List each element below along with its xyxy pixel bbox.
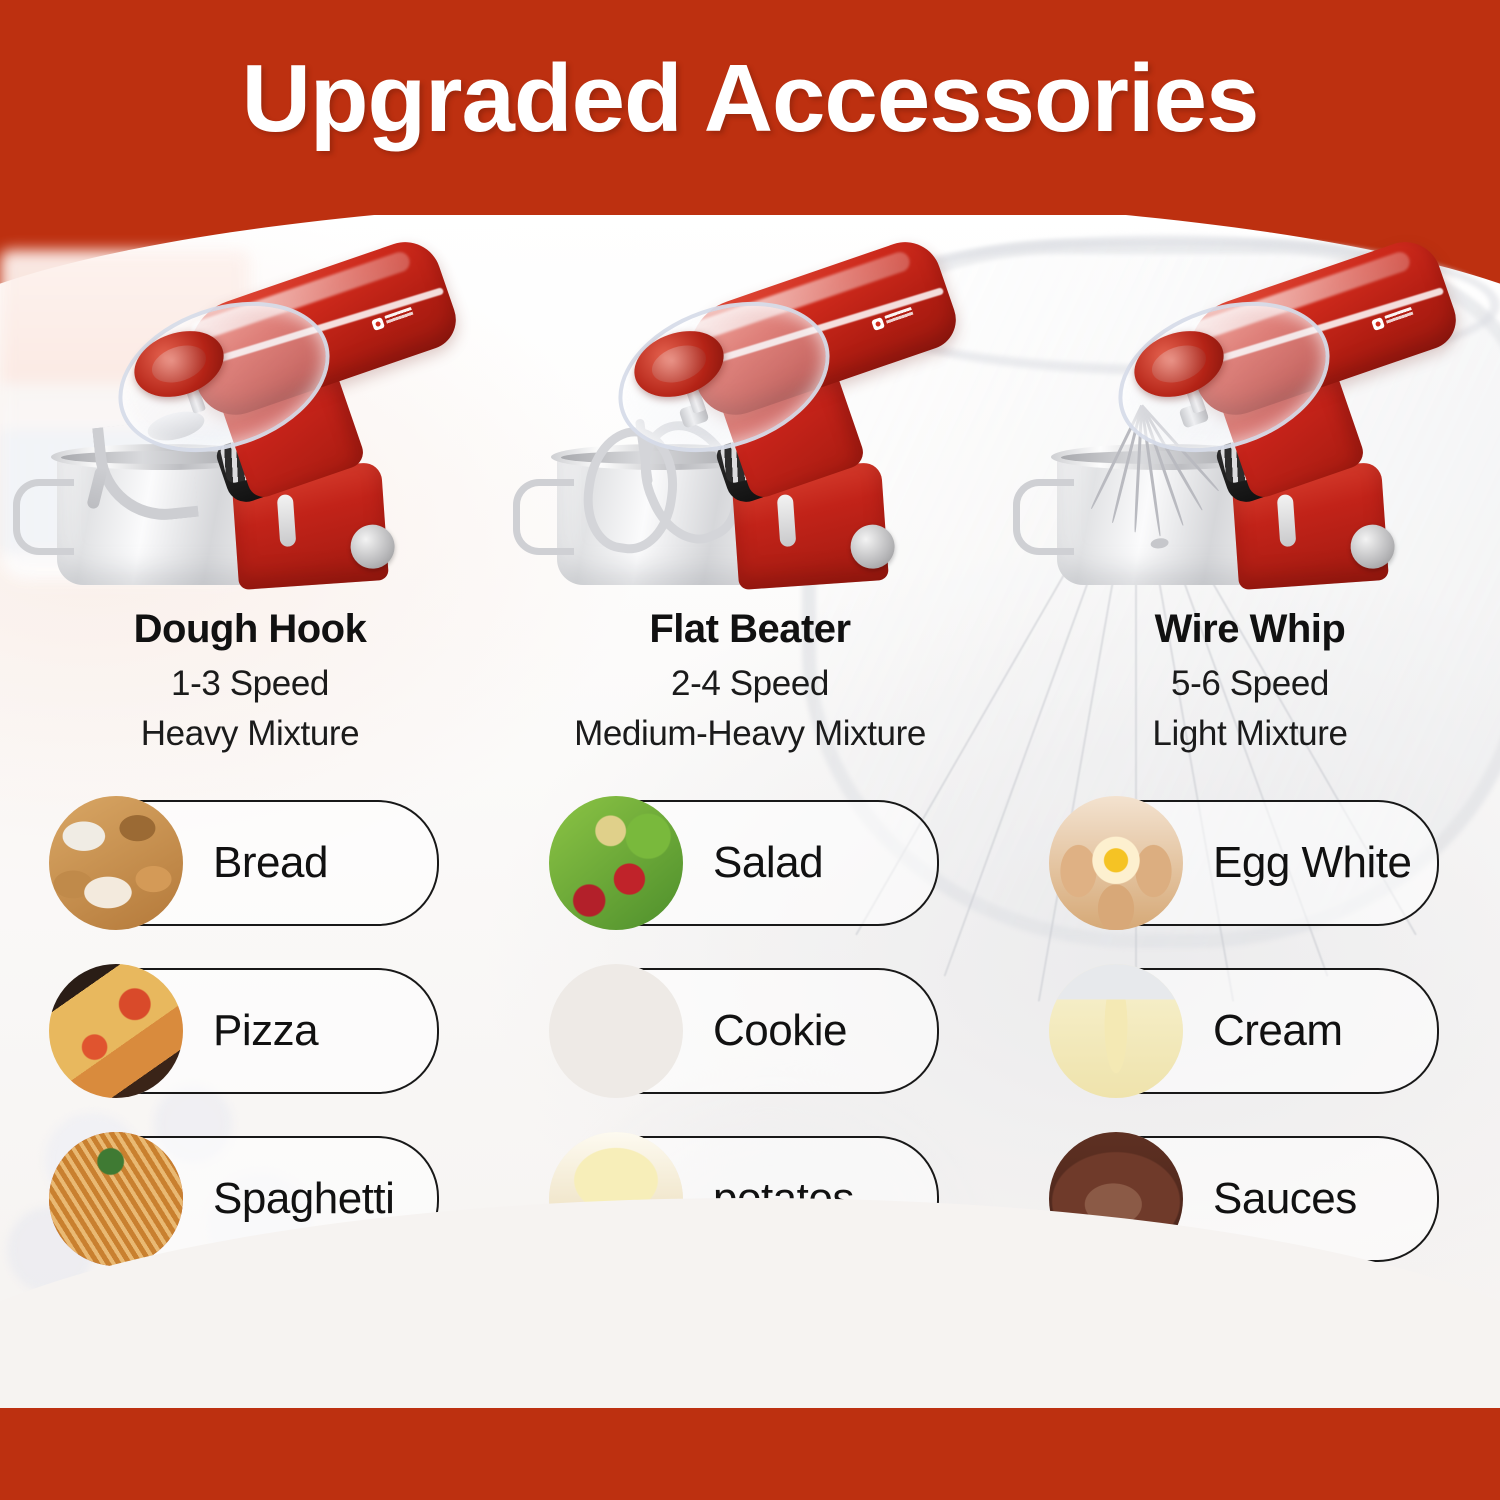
mixer-image-dough-hook [35, 255, 465, 585]
mixer-base-slot [277, 494, 297, 547]
stand-mixer-illustration [35, 255, 465, 585]
logo-mark [1371, 317, 1385, 331]
speed-knob [849, 523, 896, 570]
use-case-label: Salad [713, 838, 823, 888]
mixer-image-flat-beater [535, 255, 965, 585]
mixer-base-slot [1277, 494, 1297, 547]
logo-wordmark [884, 307, 914, 326]
accessory-mixture: Medium-Heavy Mixture [574, 714, 926, 754]
accessory-speed: 5-6 Speed [1171, 664, 1329, 704]
accessory-mixture: Light Mixture [1152, 714, 1347, 754]
pizza-photo [49, 964, 183, 1098]
accessory-column-flat-beater: Flat Beater 2-4 Speed Medium-Heavy Mixtu… [500, 255, 1000, 754]
use-case-label: Pizza [213, 1006, 318, 1056]
use-case-column-wire-whip: Egg White Cream Sauces [1000, 800, 1500, 1262]
logo-wordmark [1384, 307, 1414, 326]
stand-mixer-illustration [1035, 255, 1465, 585]
accessory-speed: 1-3 Speed [171, 664, 329, 704]
use-case-pill[interactable]: Salad [561, 800, 939, 926]
egg-white-photo [1049, 796, 1183, 930]
spaghetti-photo [49, 1132, 183, 1266]
stand-mixer-illustration [535, 255, 965, 585]
logo-mark [371, 317, 385, 331]
bread-photo [49, 796, 183, 930]
use-case-grid: Bread Pizza Spaghetti Salad Cookie [0, 800, 1500, 1262]
use-case-label: Sauces [1213, 1174, 1357, 1224]
bowl-handle [13, 479, 74, 555]
accessory-speed: 2-4 Speed [671, 664, 829, 704]
accessory-name: Dough Hook [134, 607, 367, 652]
use-case-pill[interactable]: Bread [61, 800, 439, 926]
use-case-pill[interactable]: Egg White [1061, 800, 1439, 926]
use-case-label: Cream [1213, 1006, 1343, 1056]
use-case-pill[interactable]: Cookie [561, 968, 939, 1094]
accessory-columns: Dough Hook 1-3 Speed Heavy Mixture [0, 255, 1500, 754]
mixer-base-slot [777, 494, 797, 547]
accessory-mixture: Heavy Mixture [141, 714, 359, 754]
use-case-label: Egg White [1213, 838, 1411, 888]
mixer-image-wire-whip [1035, 255, 1465, 585]
accessory-column-dough-hook: Dough Hook 1-3 Speed Heavy Mixture [0, 255, 500, 754]
use-case-pill[interactable]: Pizza [61, 968, 439, 1094]
use-case-label: Cookie [713, 1006, 847, 1056]
bowl-handle [1013, 479, 1074, 555]
use-case-label: Bread [213, 838, 328, 888]
speed-knob [349, 523, 396, 570]
use-case-pill[interactable]: Cream [1061, 968, 1439, 1094]
page-title: Upgraded Accessories [242, 51, 1259, 165]
product-infographic: Upgraded Accessories [0, 0, 1500, 1500]
logo-wordmark [384, 307, 414, 326]
salad-photo [549, 796, 683, 930]
accessory-name: Flat Beater [649, 607, 850, 652]
logo-mark [871, 317, 885, 331]
accessory-column-wire-whip: Wire Whip 5-6 Speed Light Mixture [1000, 255, 1500, 754]
use-case-label: Spaghetti [213, 1174, 394, 1224]
speed-knob [1349, 523, 1396, 570]
use-case-column-dough-hook: Bread Pizza Spaghetti [0, 800, 500, 1262]
header-banner: Upgraded Accessories [0, 0, 1500, 215]
cream-photo [1049, 964, 1183, 1098]
accessory-name: Wire Whip [1155, 607, 1346, 652]
bowl-handle [513, 479, 574, 555]
cookie-photo [549, 964, 683, 1098]
use-case-column-flat-beater: Salad Cookie potatos [500, 800, 1000, 1262]
